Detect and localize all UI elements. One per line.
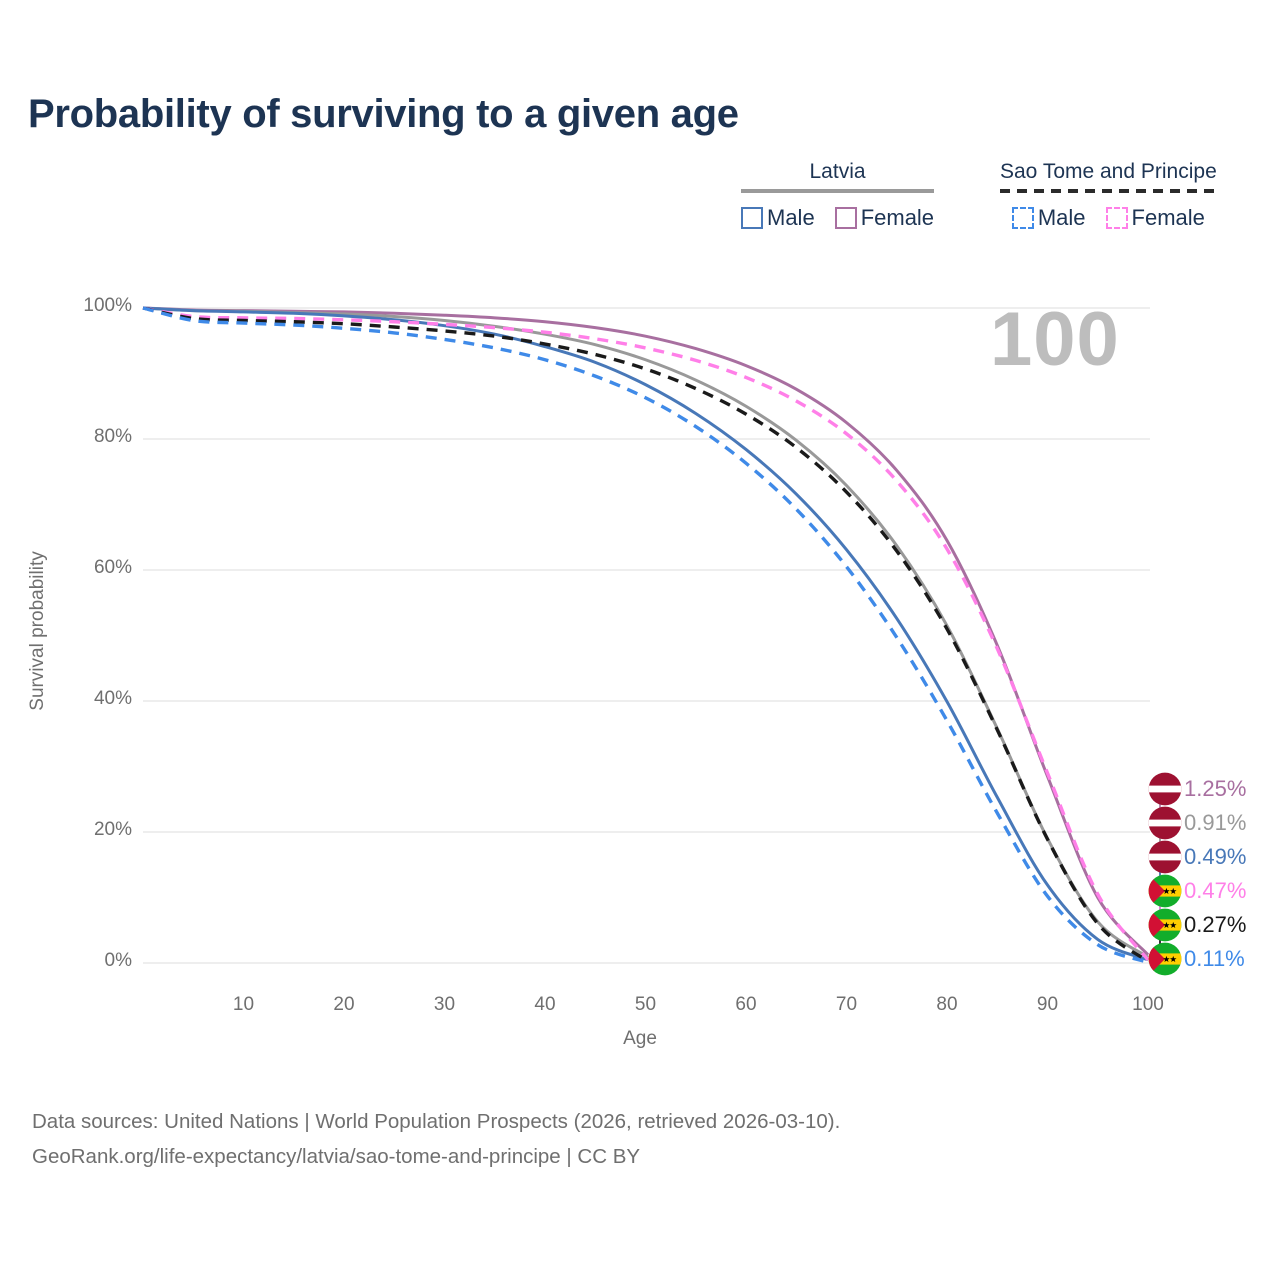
x-axis-tick-label: 40 <box>505 994 585 1016</box>
x-axis-tick-label: 20 <box>304 994 384 1016</box>
x-axis-tick-label: 30 <box>405 994 485 1016</box>
end-value-text: 0.47% <box>1184 878 1246 904</box>
end-value-label-row[interactable]: 1.25% <box>1148 772 1246 806</box>
y-axis-tick-label: 80% <box>40 426 132 448</box>
sao-tome-and-principe-flag-icon <box>1148 942 1182 976</box>
latvia-flag-icon <box>1148 806 1182 840</box>
y-axis-tick-label: 0% <box>40 950 132 972</box>
sao-tome-and-principe-flag-icon <box>1148 908 1182 942</box>
gridlines <box>143 308 1150 963</box>
end-value-text: 1.25% <box>1184 776 1246 802</box>
y-axis-tick-label: 40% <box>40 688 132 710</box>
x-axis-tick-label: 50 <box>606 994 686 1016</box>
sao-tome-and-principe-flag-icon <box>1148 874 1182 908</box>
series-line <box>143 308 1148 961</box>
x-axis-title: Age <box>0 1028 1280 1050</box>
x-axis-tick-label: 60 <box>706 994 786 1016</box>
series-line <box>143 308 1148 957</box>
series-line <box>143 308 1148 960</box>
age-watermark: 100 <box>990 296 1120 383</box>
end-value-label-row[interactable]: 0.91% <box>1148 806 1246 840</box>
chart-container: Probability of surviving to a given age … <box>0 0 1280 1280</box>
latvia-flag-icon <box>1148 772 1182 806</box>
end-value-label-row[interactable]: 0.11% <box>1148 942 1245 976</box>
y-axis-tick-label: 100% <box>40 295 132 317</box>
series-line <box>143 308 1148 955</box>
footer-line-sources: Data sources: United Nations | World Pop… <box>32 1104 840 1139</box>
footer: Data sources: United Nations | World Pop… <box>32 1104 840 1174</box>
latvia-flag-icon <box>1148 806 1182 840</box>
footer-line-url[interactable]: GeoRank.org/life-expectancy/latvia/sao-t… <box>32 1139 840 1174</box>
series-curves <box>143 308 1148 962</box>
end-value-text: 0.11% <box>1184 946 1245 972</box>
x-axis-tick-label: 90 <box>1008 994 1088 1016</box>
end-value-text: 0.91% <box>1184 810 1246 836</box>
y-axis-title: Survival probability <box>27 531 49 731</box>
end-value-label-row[interactable]: 0.47% <box>1148 874 1246 908</box>
x-axis-tick-label: 100 <box>1108 994 1188 1016</box>
end-value-label-row[interactable]: 0.27% <box>1148 908 1246 942</box>
x-axis-tick-label: 10 <box>204 994 284 1016</box>
saotome-flag-icon <box>1148 874 1182 908</box>
latvia-flag-icon <box>1148 840 1182 874</box>
series-line <box>143 308 1148 962</box>
end-value-label-row[interactable]: 0.49% <box>1148 840 1246 874</box>
y-axis-tick-label: 60% <box>40 557 132 579</box>
series-line <box>143 308 1148 960</box>
x-axis-tick-label: 70 <box>807 994 887 1016</box>
end-value-text: 0.27% <box>1184 912 1246 938</box>
end-value-text: 0.49% <box>1184 844 1246 870</box>
plot-area <box>0 0 1280 1060</box>
saotome-flag-icon <box>1148 908 1182 942</box>
latvia-flag-icon <box>1148 840 1182 874</box>
latvia-flag-icon <box>1148 772 1182 806</box>
x-axis-tick-label: 80 <box>907 994 987 1016</box>
saotome-flag-icon <box>1148 942 1182 976</box>
y-axis-tick-label: 20% <box>40 819 132 841</box>
